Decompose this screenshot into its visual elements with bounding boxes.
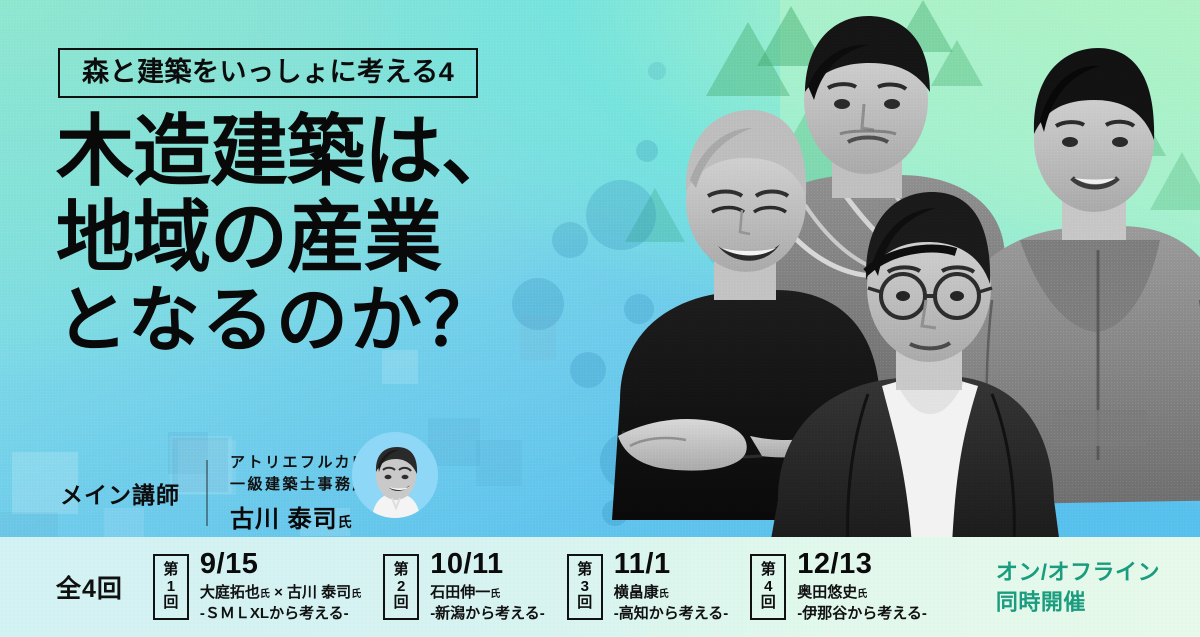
session-date: 12/13: [797, 550, 927, 579]
total-sessions-label: 全4回: [56, 569, 123, 605]
lecturer-org-line-1: アトリエフルカワ: [230, 452, 370, 474]
ordinal-top: 第: [577, 562, 592, 579]
avatar: [352, 432, 438, 518]
online-line-1: オン/オフライン: [996, 557, 1160, 587]
headline-line-3: となるのか？: [56, 285, 518, 358]
session-body: 10/11 石田伸一氏 -新潟から考える-: [430, 550, 545, 625]
series-subtitle-text: 森と建築をいっしょに考える4: [82, 59, 454, 86]
session-theme: -高知から考える-: [614, 604, 729, 624]
vertical-divider: [206, 460, 208, 526]
speaker-suffix: 氏: [659, 589, 669, 600]
event-poster: 森と建築をいっしょに考える4 木造建築は、 地域の産業 となるのか？ メイン講師…: [0, 0, 1200, 637]
lecturer-name: 古川 泰司氏: [230, 499, 370, 534]
main-lecturer-label: メイン講師: [60, 476, 180, 510]
speaker-name: 大庭拓也: [200, 584, 260, 601]
session-ordinal-box: 第 4 回: [750, 554, 786, 620]
session-ordinal-box: 第 1 回: [153, 554, 189, 620]
ordinal-bottom: 回: [163, 595, 178, 612]
ordinal-top: 第: [163, 562, 178, 579]
session-speaker: 大庭拓也氏 × 古川 泰司氏: [200, 582, 361, 605]
ordinal-number: 4: [764, 579, 772, 596]
online-offline-badge: オン/オフライン 同時開催: [996, 557, 1160, 616]
ordinal-bottom: 回: [577, 595, 592, 612]
page-title: 木造建築は、 地域の産業 となるのか？: [56, 112, 518, 359]
series-subtitle-box: 森と建築をいっしょに考える4: [58, 48, 478, 98]
session-date: 9/15: [200, 550, 361, 579]
session-ordinal-box: 第 2 回: [383, 554, 419, 620]
session-speaker: 奥田悠史氏: [797, 582, 927, 605]
headline-line-2: 地域の産業: [56, 198, 518, 278]
speaker-extra-suffix: 氏: [351, 589, 361, 600]
session-body: 11/1 横畠康氏 -高知から考える-: [614, 550, 729, 625]
ordinal-number: 2: [397, 579, 405, 596]
lecturer-name-suffix: 氏: [338, 514, 353, 530]
speaker-name: 石田伸一: [430, 584, 490, 601]
session-body: 9/15 大庭拓也氏 × 古川 泰司氏 -ＳＭＬXLから考える-: [200, 550, 361, 625]
main-lecturer-meta: アトリエフルカワ 一級建築士事務所 古川 泰司氏: [230, 452, 370, 534]
speaker-extra: × 古川 泰司: [270, 584, 351, 601]
ordinal-top: 第: [394, 562, 409, 579]
list-item[interactable]: 第 3 回 11/1 横畠康氏 -高知から考える-: [567, 550, 729, 625]
session-ordinal-box: 第 3 回: [567, 554, 603, 620]
session-theme: -ＳＭＬXLから考える-: [200, 604, 361, 624]
lecturer-org-line-2: 一級建築士事務所: [230, 474, 370, 496]
ordinal-number: 1: [167, 579, 175, 596]
speaker-suffix: 氏: [490, 589, 500, 600]
session-speaker: 石田伸一氏: [430, 582, 545, 605]
speaker-name: 奥田悠史: [797, 584, 857, 601]
speaker-suffix: 氏: [260, 589, 270, 600]
session-date: 10/11: [430, 550, 545, 579]
session-body: 12/13 奥田悠史氏 -伊那谷から考える-: [797, 550, 927, 625]
ordinal-number: 3: [581, 579, 589, 596]
headline-line-1: 木造建築は、: [56, 112, 518, 192]
list-item[interactable]: 第 1 回 9/15 大庭拓也氏 × 古川 泰司氏 -ＳＭＬXLから考える-: [153, 550, 361, 625]
online-line-2: 同時開催: [996, 587, 1160, 617]
speaker-name: 横畠康: [614, 584, 659, 601]
schedule-footer-bar: 全4回 第 1 回 9/15 大庭拓也氏 × 古川 泰司氏 -ＳＭＬXLから考え…: [0, 537, 1200, 637]
main-lecturer-block: メイン講師 アトリエフルカワ 一級建築士事務所 古川 泰司氏: [60, 452, 370, 534]
session-theme: -新潟から考える-: [430, 604, 545, 624]
avatar-portrait: [352, 432, 438, 518]
session-theme: -伊那谷から考える-: [797, 604, 927, 624]
speaker-suffix: 氏: [857, 589, 867, 600]
ordinal-top: 第: [761, 562, 776, 579]
ordinal-bottom: 回: [394, 595, 409, 612]
lecturer-name-text: 古川 泰司: [230, 506, 338, 533]
list-item[interactable]: 第 2 回 10/11 石田伸一氏 -新潟から考える-: [383, 550, 545, 625]
session-list: 第 1 回 9/15 大庭拓也氏 × 古川 泰司氏 -ＳＭＬXLから考える- 第…: [153, 550, 949, 625]
session-date: 11/1: [614, 550, 729, 579]
ordinal-bottom: 回: [761, 595, 776, 612]
list-item[interactable]: 第 4 回 12/13 奥田悠史氏 -伊那谷から考える-: [750, 550, 927, 625]
session-speaker: 横畠康氏: [614, 582, 729, 605]
